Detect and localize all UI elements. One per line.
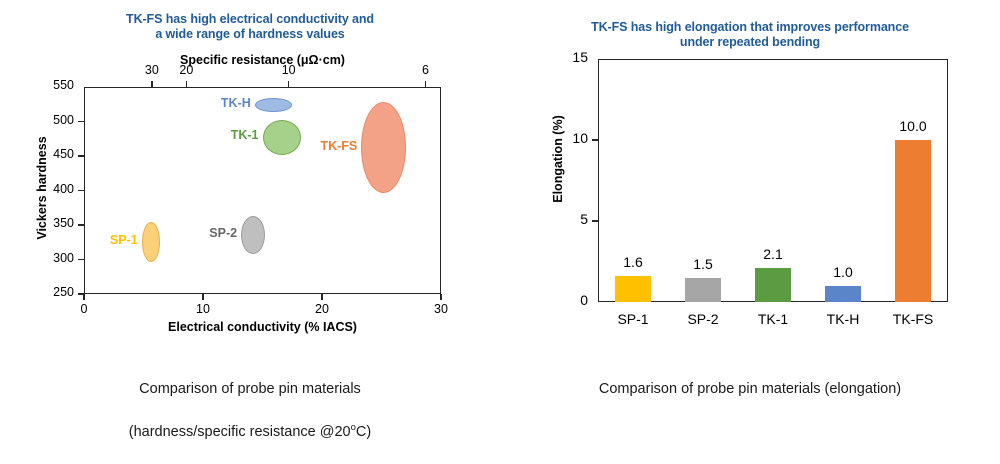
scatter-blob-tk-h[interactable] bbox=[255, 98, 292, 112]
scatter-y-tick-label: 450 bbox=[24, 147, 74, 161]
scatter-x-axis-title: Electrical conductivity (% IACS) bbox=[84, 320, 441, 334]
scatter-secondary-x-tick-mark bbox=[288, 81, 290, 87]
scatter-x-tick-label: 0 bbox=[59, 302, 109, 316]
scatter-y-tick-mark bbox=[78, 224, 84, 226]
bar-y-tick-label: 15 bbox=[542, 49, 588, 65]
scatter-y-tick-label: 400 bbox=[24, 182, 74, 196]
left-caption-line2: (hardness/specific resistance @20oC) bbox=[0, 422, 500, 440]
left-caption-line1: Comparison of probe pin materials bbox=[0, 381, 500, 397]
bar-sp-2[interactable] bbox=[685, 278, 721, 302]
bar-tk-1[interactable] bbox=[755, 268, 791, 302]
scatter-y-tick-mark bbox=[78, 259, 84, 261]
right-caption-line1: Comparison of probe pin materials (elong… bbox=[500, 381, 1000, 397]
bar-y-tick-label: 5 bbox=[542, 211, 588, 227]
scatter-x-tick-mark bbox=[202, 294, 204, 300]
left-caption-line2-pre: (hardness/specific resistance @20 bbox=[129, 424, 351, 440]
bar-value-label-tk-1: 2.1 bbox=[733, 246, 813, 262]
scatter-y-tick-label: 250 bbox=[24, 285, 74, 299]
left-caption-line2-post: C) bbox=[356, 424, 371, 440]
scatter-x-tick-mark bbox=[321, 294, 323, 300]
scatter-x-tick-mark bbox=[83, 294, 85, 300]
scatter-blob-sp-1[interactable] bbox=[142, 222, 160, 262]
scatter-blob-label-tk-h: TK-H bbox=[221, 96, 251, 110]
scatter-x-tick-label: 10 bbox=[178, 302, 228, 316]
scatter-y-tick-mark bbox=[78, 293, 84, 295]
bar-y-tick-label: 10 bbox=[542, 130, 588, 146]
bar-y-tick-mark bbox=[592, 220, 598, 222]
scatter-y-tick-mark bbox=[78, 155, 84, 157]
scatter-y-tick-label: 350 bbox=[24, 216, 74, 230]
scatter-y-tick-mark bbox=[78, 121, 84, 123]
scatter-secondary-x-tick-label: 6 bbox=[401, 63, 451, 77]
bar-sp-1[interactable] bbox=[615, 276, 651, 302]
right-panel: TK-FS has high elongation that improves … bbox=[500, 0, 1000, 464]
bar-value-label-sp-2: 1.5 bbox=[663, 256, 743, 272]
scatter-blob-label-tk-1: TK-1 bbox=[231, 128, 259, 142]
scatter-secondary-x-tick-label: 20 bbox=[161, 63, 211, 77]
scatter-secondary-x-tick-label: 10 bbox=[264, 63, 314, 77]
bar-y-tick-mark bbox=[592, 139, 598, 141]
scatter-y-tick-mark bbox=[78, 190, 84, 192]
bar-tk-fs[interactable] bbox=[895, 140, 931, 302]
scatter-y-tick-label: 300 bbox=[24, 251, 74, 265]
bar-value-label-tk-fs: 10.0 bbox=[873, 118, 953, 134]
bar-y-tick-label: 0 bbox=[542, 292, 588, 308]
left-panel: TK-FS has high electrical conductivity a… bbox=[0, 0, 500, 464]
scatter-secondary-x-tick-mark bbox=[425, 81, 427, 87]
scatter-blob-label-tk-fs: TK-FS bbox=[320, 139, 357, 153]
scatter-secondary-x-tick-mark bbox=[151, 81, 153, 87]
scatter-blob-sp-2[interactable] bbox=[241, 216, 265, 254]
scatter-blob-tk-1[interactable] bbox=[263, 120, 301, 155]
scatter-secondary-x-tick-mark bbox=[186, 81, 188, 87]
scatter-x-tick-label: 20 bbox=[297, 302, 347, 316]
bar-value-label-sp-1: 1.6 bbox=[593, 254, 673, 270]
bar-value-label-tk-h: 1.0 bbox=[803, 264, 883, 280]
scatter-y-tick-label: 550 bbox=[24, 78, 74, 92]
scatter-x-tick-mark bbox=[440, 294, 442, 300]
scatter-chart: Specific resistance (μΩ·cm) Vickers hard… bbox=[0, 0, 500, 360]
bar-chart: Elongation (%) 051015 1.61.52.11.010.0 S… bbox=[500, 0, 1000, 360]
scatter-blob-label-sp-2: SP-2 bbox=[209, 226, 237, 240]
figure-root: TK-FS has high electrical conductivity a… bbox=[0, 0, 1000, 464]
bar-category-label-tk-fs: TK-FS bbox=[868, 311, 958, 327]
scatter-y-tick-label: 500 bbox=[24, 113, 74, 127]
bar-tk-h[interactable] bbox=[825, 286, 861, 302]
scatter-blob-label-sp-1: SP-1 bbox=[110, 233, 138, 247]
scatter-x-tick-label: 30 bbox=[416, 302, 466, 316]
